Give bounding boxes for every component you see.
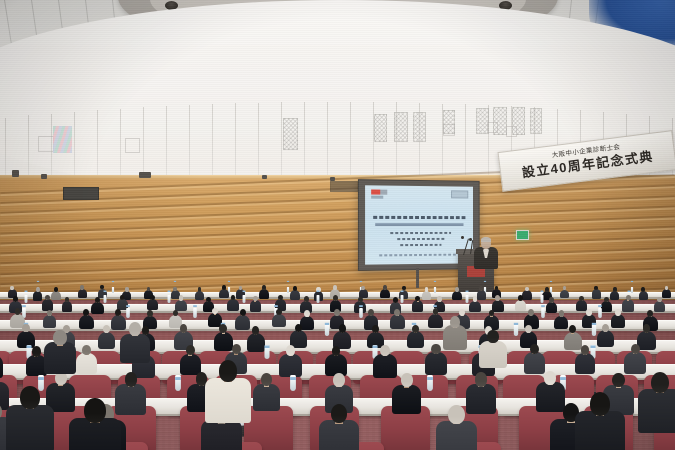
audience-member-head	[459, 309, 465, 316]
water-bottle-cap	[126, 305, 130, 307]
audience-member-torso	[639, 291, 648, 300]
water-bottle-cap	[274, 305, 278, 307]
audience-member-head	[361, 286, 365, 290]
water-bottle-cap	[287, 281, 289, 282]
audience-member-torso	[78, 289, 87, 298]
audience-member-head	[150, 295, 155, 300]
audience-member-head	[53, 330, 66, 345]
audience-member-torso	[0, 382, 9, 410]
audience-member-head	[487, 330, 498, 343]
audience-member-torso	[479, 341, 507, 369]
audience-member-head	[45, 295, 50, 300]
audience-member-head	[295, 324, 302, 332]
audience-member-head	[32, 346, 41, 356]
audience-member-torso	[201, 420, 242, 450]
audience-member-torso	[279, 354, 302, 377]
audience-member-head	[612, 373, 624, 387]
water-bottle	[359, 308, 363, 318]
audience-member-head	[604, 297, 609, 302]
audience-member-head	[613, 287, 617, 291]
audience-member-torso	[380, 289, 390, 299]
water-bottle-cap	[38, 377, 44, 380]
water-bottle	[167, 295, 170, 303]
audience-member-head	[20, 386, 39, 409]
audience-member-torso	[373, 354, 397, 378]
water-bottle-cap	[541, 305, 545, 307]
audience-member-head	[333, 285, 337, 290]
audience-member-torso	[392, 385, 421, 414]
audience-member-torso	[390, 314, 405, 329]
audience-member-head	[475, 372, 487, 386]
audience-member-head	[450, 316, 460, 328]
audience-member-head	[219, 360, 237, 382]
audience-member-torso	[6, 405, 53, 450]
water-bottle	[112, 287, 114, 293]
audience-member-head	[586, 309, 591, 315]
audience-member-head	[179, 295, 184, 300]
audience-member-head	[530, 344, 539, 354]
audience-member-head	[473, 296, 478, 301]
audience-member-head	[393, 297, 398, 303]
audience-member-torso	[412, 300, 423, 311]
audience-member-torso	[546, 302, 557, 313]
audience-member-torso	[662, 289, 671, 298]
audience-member-torso	[492, 300, 504, 312]
water-bottle-cap	[427, 377, 433, 380]
water-bottle-cap	[360, 281, 362, 282]
water-bottle-cap	[550, 281, 552, 282]
audience-member-torso	[407, 331, 424, 348]
audience-member-torso	[227, 299, 239, 311]
audience-member-torso	[180, 354, 201, 375]
water-bottle	[193, 308, 197, 318]
water-bottle	[287, 287, 289, 293]
audience-member-torso	[592, 289, 601, 298]
audience-member-head	[448, 405, 465, 424]
audience-member-head	[206, 297, 211, 302]
audience-member-torso	[290, 290, 300, 300]
audience-member-torso	[638, 389, 675, 433]
audience-member-head	[525, 325, 532, 333]
audience-member-torso	[477, 290, 487, 300]
audience-member-torso	[522, 290, 532, 300]
audience-member-torso	[536, 382, 565, 411]
water-bottle	[592, 324, 596, 336]
audience-member-torso	[91, 302, 103, 314]
audience-member-torso	[195, 291, 204, 300]
audience-member-head	[331, 404, 347, 423]
water-bottle	[242, 295, 245, 303]
audience-member-head	[293, 286, 297, 291]
audience-member-head	[518, 295, 523, 300]
audience-member-torso	[319, 420, 359, 450]
audience-member-torso	[147, 299, 158, 310]
audience-member-torso	[654, 301, 665, 312]
water-bottle	[104, 295, 107, 303]
audience-member-head	[240, 309, 246, 316]
audience-member-head	[358, 297, 363, 303]
audience-member-head	[437, 296, 442, 302]
audience-member-head	[198, 287, 202, 291]
water-bottle	[126, 308, 130, 318]
audience-member-head	[173, 310, 178, 316]
audience-member-torso	[469, 301, 480, 312]
audience-member-torso	[51, 291, 61, 301]
water-bottle-cap	[175, 377, 181, 380]
audience-member-head	[278, 295, 283, 300]
audience-member-torso	[235, 315, 250, 330]
audience-member-torso	[425, 352, 447, 374]
audience-member-torso	[576, 300, 587, 311]
audience-member-head	[22, 324, 29, 332]
audience-member-head	[10, 286, 14, 290]
water-bottle-cap	[228, 281, 230, 282]
water-bottle	[598, 308, 602, 318]
water-bottle-cap	[598, 305, 602, 307]
audience-member-torso	[205, 378, 250, 423]
audience-member-head	[549, 297, 553, 302]
audience-member-head	[36, 287, 40, 292]
audience-member-head	[626, 295, 631, 301]
audience-member-torso	[115, 384, 146, 415]
audience-member-head	[433, 308, 439, 315]
water-bottle	[541, 295, 544, 303]
audience-member-torso	[98, 332, 115, 349]
audience-member-head	[545, 287, 549, 291]
audience-member-head	[82, 345, 90, 355]
audience-member-torso	[120, 334, 150, 364]
audience-member-head	[276, 309, 282, 316]
audience-member-torso	[610, 291, 619, 300]
water-bottle-cap	[631, 281, 633, 282]
water-bottle-cap	[433, 305, 437, 307]
water-bottle-cap	[560, 377, 566, 380]
audience-member-head	[129, 322, 141, 336]
water-bottle	[316, 295, 319, 303]
audience-member-head	[528, 309, 534, 316]
water-bottle-cap	[484, 281, 486, 282]
audience-member-head	[262, 285, 266, 290]
water-bottle-cap	[174, 281, 176, 282]
water-bottle	[466, 295, 469, 303]
audience-member-head	[231, 295, 236, 301]
audience-member-head	[665, 286, 669, 290]
audience-member-torso	[33, 291, 43, 301]
audience-member-head	[615, 309, 621, 316]
audience-member-head	[83, 309, 89, 316]
water-bottle-cap	[37, 281, 39, 282]
audience-member-head	[333, 295, 338, 301]
audience-member-torso	[637, 331, 656, 350]
audience-member-head	[186, 345, 195, 355]
audience-member-head	[401, 373, 413, 387]
audience-member-head	[339, 324, 346, 333]
audience-member-head	[80, 285, 84, 289]
audience-member-torso	[44, 342, 76, 374]
audience-member-head	[368, 309, 374, 316]
audience-member-torso	[214, 332, 233, 351]
audience-member-head	[147, 310, 153, 317]
audience-member-head	[65, 297, 69, 302]
audience-member-head	[525, 287, 529, 292]
audience-member-torso	[515, 300, 526, 311]
water-bottle-cap	[359, 305, 363, 307]
audience-member-head	[602, 324, 609, 332]
audience-member-head	[383, 285, 387, 290]
water-bottle-cap	[193, 305, 197, 307]
audience-member-torso	[452, 291, 462, 301]
water-bottle-cap	[373, 345, 378, 348]
audience-member-torso	[436, 421, 477, 450]
water-bottle-cap	[264, 345, 269, 348]
water-bottle-cap	[27, 345, 32, 348]
audience-member-torso	[624, 352, 646, 374]
water-bottle-cap	[513, 323, 517, 325]
audience-member-head	[84, 398, 105, 423]
audience-member-head	[95, 297, 100, 303]
audience-member-head	[579, 296, 583, 301]
conference-hall-photo: 大阪中小企業診断士会 設立40周年記念式典	[0, 0, 675, 450]
audience-member-head	[261, 373, 272, 386]
audience-member-head	[544, 371, 556, 385]
audience-member-head	[394, 309, 400, 316]
water-bottle	[325, 324, 329, 336]
audience-member-head	[222, 285, 226, 289]
water-bottle	[513, 324, 517, 336]
audience-member-head	[304, 310, 310, 317]
water-bottle	[400, 295, 403, 303]
audience-member-torso	[575, 411, 625, 450]
audience-member-head	[631, 344, 640, 354]
audience-member-torso	[422, 291, 431, 300]
audience-member-head	[412, 325, 419, 333]
audience-member-head	[495, 295, 500, 301]
audience-member-torso	[622, 299, 634, 311]
audience-member-torso	[219, 289, 228, 298]
audience-member-torso	[253, 384, 280, 411]
audience-member-torso	[250, 300, 262, 312]
audience-member-head	[590, 392, 610, 416]
audience-member-torso	[597, 330, 614, 347]
audience-member-torso	[272, 314, 286, 328]
audience-member-head	[431, 344, 440, 355]
audience-member-torso	[575, 353, 596, 374]
audience-member-head	[651, 372, 669, 393]
water-bottle-cap	[325, 323, 329, 325]
audience-member-head	[125, 287, 129, 291]
audience-member-torso	[611, 314, 625, 328]
water-bottle-cap	[290, 377, 296, 380]
water-bottle	[434, 287, 436, 293]
audience-member-head	[334, 309, 340, 316]
audience-member-torso	[111, 315, 125, 329]
audience-member-head	[333, 373, 345, 387]
audience-member-torso	[466, 384, 496, 414]
water-bottle-cap	[592, 323, 596, 325]
audience-member-head	[455, 287, 459, 292]
audience-member-head	[13, 296, 18, 302]
audience-member-torso	[259, 289, 269, 299]
audience-area	[0, 0, 675, 450]
audience-member-torso	[76, 353, 97, 374]
audience-member-head	[495, 286, 499, 290]
audience-member-head	[54, 287, 58, 292]
audience-member-torso	[43, 315, 56, 328]
audience-member-head	[253, 296, 258, 302]
water-bottle-cap	[591, 345, 596, 348]
audience-member-torso	[42, 299, 53, 310]
audience-member-head	[559, 310, 565, 317]
audience-member-torso	[428, 314, 442, 328]
audience-member-torso	[62, 301, 73, 312]
audience-member-head	[304, 296, 309, 302]
audience-member-torso	[564, 332, 582, 350]
audience-member-torso	[79, 315, 93, 329]
audience-member-head	[641, 287, 645, 292]
water-bottle-cap	[112, 281, 114, 282]
audience-member-head	[581, 345, 590, 355]
audience-member-torso	[443, 325, 467, 349]
audience-member-torso	[524, 352, 545, 373]
water-bottle	[25, 295, 28, 303]
audience-member-head	[372, 325, 379, 333]
audience-member-head	[125, 372, 138, 387]
water-bottle-cap	[434, 281, 436, 282]
audience-member-head	[232, 344, 241, 354]
water-bottle-cap	[22, 305, 26, 307]
audience-member-torso	[300, 316, 315, 331]
audience-member-torso	[560, 290, 569, 299]
water-bottle	[541, 308, 545, 318]
audience-member-head	[425, 287, 429, 291]
audience-member-head	[180, 324, 188, 333]
audience-member-head	[47, 310, 52, 316]
audience-member-torso	[601, 301, 612, 312]
audience-member-head	[380, 345, 390, 356]
audience-member-torso	[554, 316, 568, 330]
audience-member-torso	[247, 333, 265, 351]
